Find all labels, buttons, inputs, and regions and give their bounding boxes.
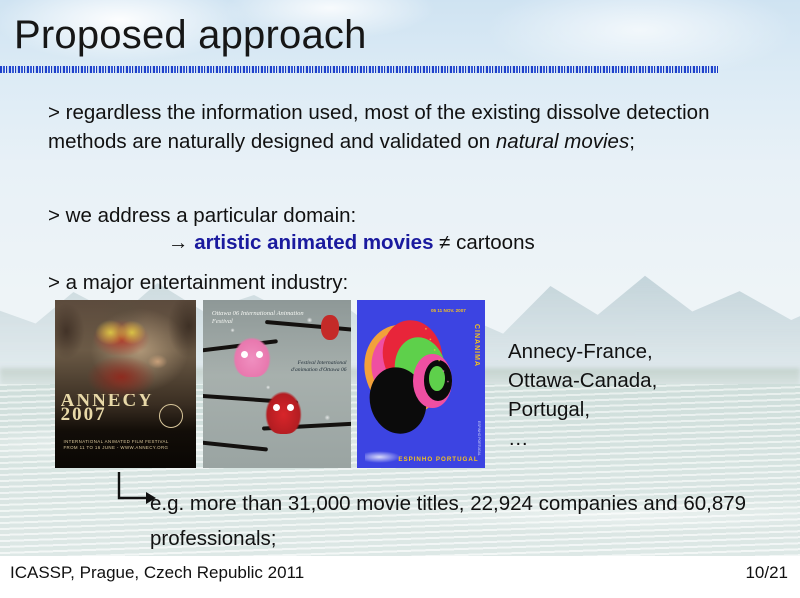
city-item: Annecy-France,	[508, 337, 657, 366]
poster-cinanima-dots	[418, 320, 462, 407]
poster-cinanima-place: ESPINHO PORTUGAL	[398, 456, 478, 463]
city-item: Portugal,	[508, 395, 657, 424]
slide-title: Proposed approach	[14, 12, 367, 58]
city-item: Ottawa-Canada,	[508, 366, 657, 395]
bullet-three-highlight: artistic animated movies	[194, 231, 433, 254]
bullet-one: > regardless the information used, most …	[48, 98, 758, 156]
bullet-three: → artistic animated movies ≠ cartoons	[168, 228, 535, 257]
poster-cinanima-side-text: ESPINHO PORTUGAL	[477, 421, 481, 456]
poster-ottawa-small-creature	[321, 315, 339, 340]
poster-ottawa-secondary: Festival International d'animation d'Ott…	[276, 360, 347, 374]
poster-cinanima-title: CINANIMA	[473, 324, 480, 367]
presentation-slide: Proposed approach > regardless the infor…	[0, 0, 800, 598]
title-divider-bar	[0, 66, 718, 73]
poster-annecy-2007: ANNECY 2007 INTERNATIONAL ANIMATED FILM …	[55, 300, 196, 468]
bullet-three-rest: ≠ cartoons	[433, 231, 534, 254]
right-arrow-icon: →	[168, 231, 194, 254]
poster-ottawa-red-creature	[265, 391, 302, 435]
footer-page-number: 10/21	[745, 563, 788, 583]
industry-figures-note: e.g. more than 31,000 movie titles, 22,9…	[150, 486, 770, 556]
bullet-one-text-b: ;	[629, 130, 635, 153]
poster-annecy-subtitle: INTERNATIONAL ANIMATED FILM FESTIVAL FRO…	[63, 439, 187, 451]
poster-cinanima: 05 11 NOV. 2007 CINANIMA ESPINHO PORTUGA…	[357, 300, 485, 468]
bullet-four: > a major entertainment industry:	[48, 268, 348, 297]
poster-annecy-seal-icon	[159, 404, 183, 428]
poster-annecy-subtitle-line2: FROM 11 TO 16 JUNE - WWW.ANNECY.ORG	[63, 445, 187, 451]
city-item-ellipsis: …	[508, 424, 657, 453]
poster-ottawa-06: Ottawa 06 International Animation Festiv…	[203, 300, 351, 468]
footer-conference-label: ICASSP, Prague, Czech Republic 2011	[10, 563, 304, 583]
poster-cinanima-logo	[365, 451, 401, 463]
bullet-two: > we address a particular domain:	[48, 201, 356, 230]
poster-ottawa-headline: Ottawa 06 International Animation Festiv…	[212, 310, 307, 326]
bullet-one-emphasis: natural movies	[496, 130, 629, 153]
poster-ottawa-pink-creature	[233, 337, 271, 377]
festival-city-list: Annecy-France, Ottawa-Canada, Portugal, …	[508, 337, 657, 453]
poster-cinanima-date: 05 11 NOV. 2007	[431, 308, 466, 313]
